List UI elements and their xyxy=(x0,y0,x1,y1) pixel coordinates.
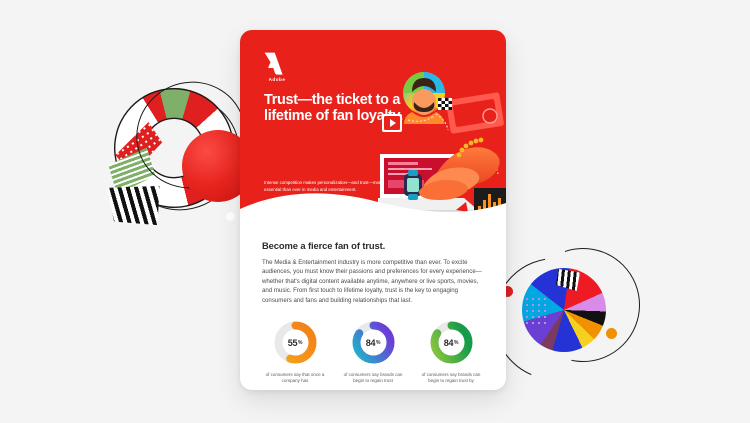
donut-value-1: 55% xyxy=(273,320,318,365)
stat-caption-1: of consumers say that once a company has xyxy=(260,372,330,384)
dot-pattern-overlay-icon xyxy=(524,296,550,326)
polka-dot-segment-icon xyxy=(110,122,167,176)
stat-item: 84% of consumers say brands can begin to… xyxy=(416,320,486,384)
orbit-arc-icon xyxy=(526,248,640,362)
adobe-a-mark-icon xyxy=(264,52,290,75)
color-wheel-icon xyxy=(522,268,606,352)
wave-divider xyxy=(240,183,506,226)
abstract-color-wheel-graphic xyxy=(508,252,636,372)
content-card: Adobe Trust—the ticket to a lifetime of … xyxy=(240,30,506,390)
ring-outline-icon xyxy=(104,77,258,229)
patterned-torus-icon xyxy=(98,72,249,223)
white-dot-icon xyxy=(226,212,235,221)
stat-caption-3: of consumers say brands can begin to reg… xyxy=(416,372,486,384)
adobe-wordmark: Adobe xyxy=(264,77,290,82)
section-heading: Become a fierce fan of trust. xyxy=(262,240,484,251)
green-stripe-segment-icon xyxy=(106,148,159,195)
page-surface: Adobe Trust—the ticket to a lifetime of … xyxy=(0,0,750,423)
section-paragraph: The Media & Entertainment industry is mo… xyxy=(262,258,484,305)
stat-item: 55% of consumers say that once a company… xyxy=(260,320,330,384)
donut-chart-3: 84% xyxy=(429,320,474,365)
card-body: Become a fierce fan of trust. The Media … xyxy=(240,226,506,305)
donut-chart-2: 84% xyxy=(351,320,396,365)
donut-value-2: 84% xyxy=(351,320,396,365)
hero-section: Adobe Trust—the ticket to a lifetime of … xyxy=(240,30,506,226)
stripe-overlay-icon xyxy=(556,269,580,291)
donut-chart-1: 55% xyxy=(273,320,318,365)
stat-caption-2: of consumers say brands can begin to reg… xyxy=(338,372,408,384)
donut-value-3: 84% xyxy=(429,320,474,365)
orbit-arc-secondary-icon xyxy=(494,258,616,380)
orange-dot-icon xyxy=(606,328,617,339)
stat-item: 84% of consumers say brands can begin to… xyxy=(338,320,408,384)
abstract-ring-sphere-graphic xyxy=(108,78,258,238)
adobe-logo: Adobe xyxy=(264,52,290,82)
stats-row: 55% of consumers say that once a company… xyxy=(240,320,506,384)
black-white-stripe-segment-icon xyxy=(107,181,165,232)
